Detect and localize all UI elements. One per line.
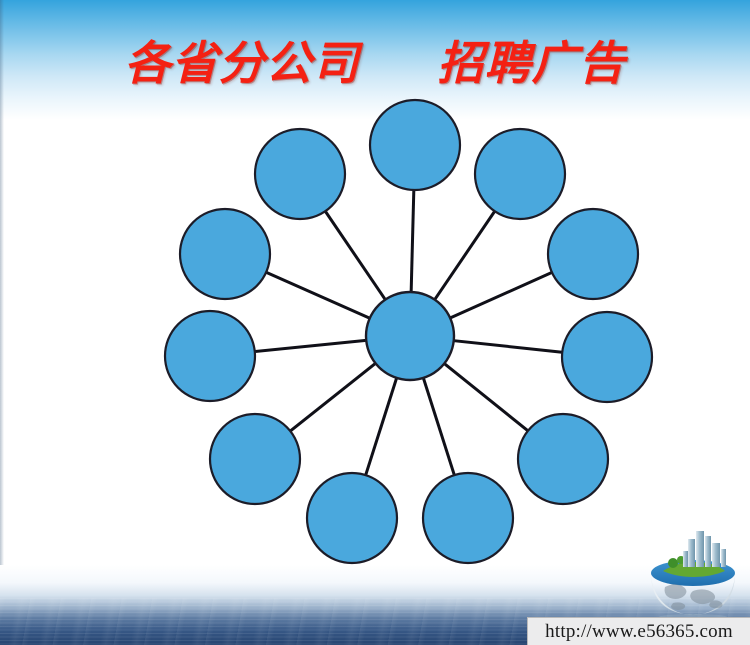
tree-icon <box>668 558 678 568</box>
node-top[interactable] <box>370 100 460 190</box>
spoke-node-left-lower <box>254 340 367 351</box>
spoke-node-upper-right <box>434 210 495 300</box>
globe-logo <box>641 527 745 619</box>
spoke-node-right-lower <box>453 341 563 353</box>
spoke-node-bottom-left <box>365 377 397 476</box>
url-watermark-text: http://www.e56365.com <box>545 621 733 643</box>
spoke-node-top <box>411 189 414 293</box>
node-lower-left[interactable] <box>210 414 300 504</box>
spoke-node-lower-left <box>289 363 376 432</box>
url-watermark: http://www.e56365.com <box>527 617 750 645</box>
slide-canvas: 各省分公司 招聘广告 <box>0 0 750 645</box>
spoke-node-left-upper <box>265 272 370 319</box>
node-right-upper[interactable] <box>548 209 638 299</box>
spoke-node-upper-left <box>325 210 386 300</box>
node-left-upper[interactable] <box>180 209 270 299</box>
node-hub[interactable] <box>366 292 454 380</box>
spoke-node-bottom-right <box>423 377 455 476</box>
node-right-lower[interactable] <box>562 312 652 402</box>
node-upper-left[interactable] <box>255 129 345 219</box>
node-bottom-right[interactable] <box>423 473 513 563</box>
globe-continents-icon <box>665 584 723 610</box>
spoke-node-lower-right <box>444 363 529 431</box>
hub-and-spoke-diagram <box>0 0 750 645</box>
node-bottom-left[interactable] <box>307 473 397 563</box>
node-left-lower[interactable] <box>165 311 255 401</box>
node-upper-right[interactable] <box>475 129 565 219</box>
spoke-node-right-upper <box>449 272 553 318</box>
node-lower-right[interactable] <box>518 414 608 504</box>
nodes-group <box>165 100 652 563</box>
